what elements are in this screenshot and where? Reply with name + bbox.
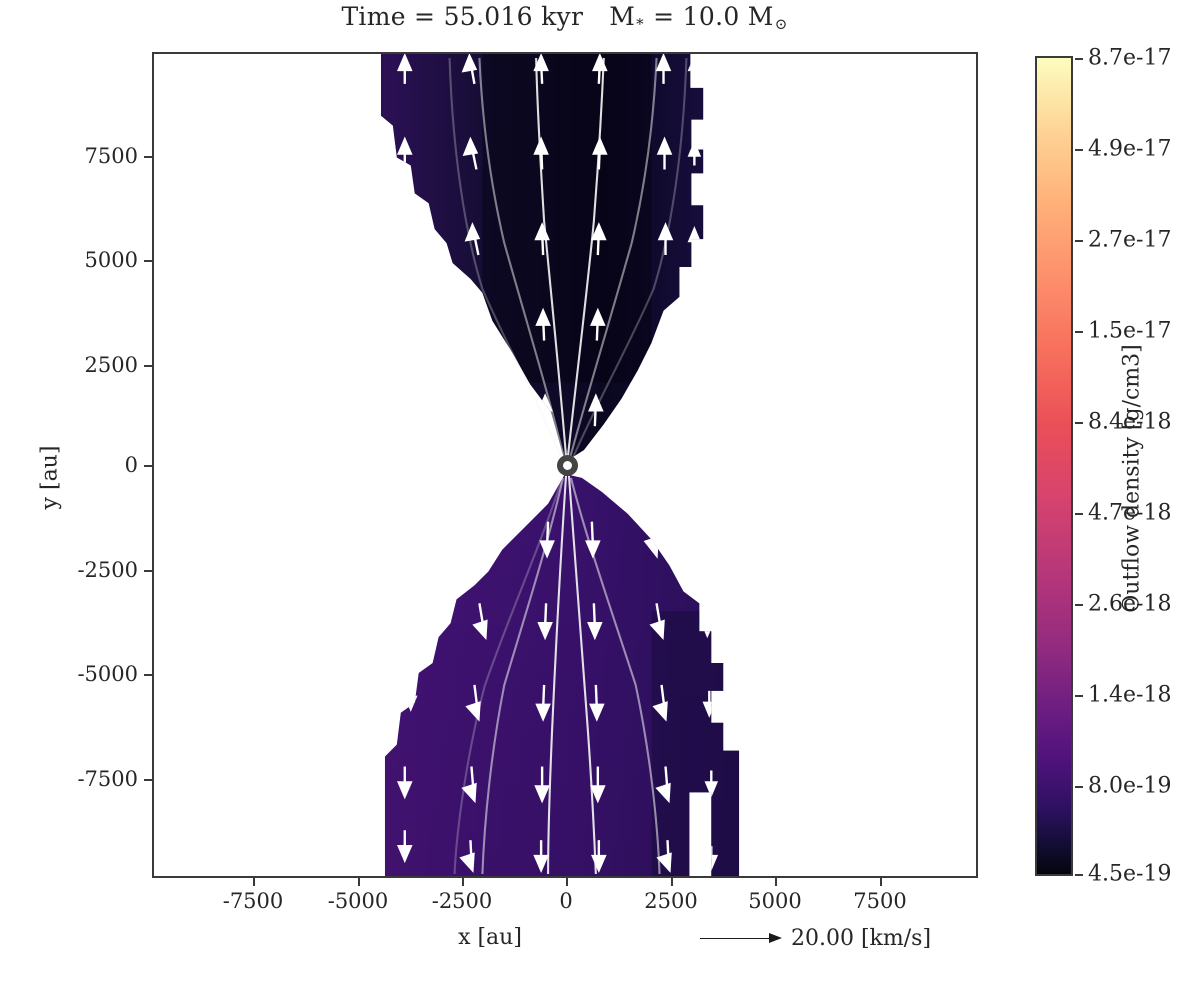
- y-tick-label: 5000: [85, 248, 138, 272]
- x-axis-label: x [au]: [400, 925, 580, 950]
- x-tick-mark: [462, 878, 464, 886]
- figure-title: Time = 55.016 kyrM* = 10.0 M⊙: [152, 2, 978, 33]
- y-tick-label: -2500: [77, 558, 138, 582]
- colorbar-tick-mark: [1075, 604, 1083, 606]
- colorbar-tick-mark: [1075, 331, 1083, 333]
- colorbar-tick-mark: [1075, 695, 1083, 697]
- colorbar-tick-label: 8.0e-19: [1088, 774, 1171, 799]
- title-mass-star-subscript: *: [635, 15, 645, 33]
- arrow-head: [769, 933, 782, 943]
- colorbar-tick-mark: [1075, 149, 1083, 151]
- colorbar-tick-mark: [1075, 58, 1083, 60]
- x-tick-mark: [566, 878, 568, 886]
- y-tick-mark: [144, 365, 152, 367]
- colorbar-tick-mark: [1075, 422, 1083, 424]
- x-tick-label: 7500: [853, 889, 906, 913]
- plot-clip-region: [154, 54, 976, 876]
- colorbar-tick-mark: [1075, 786, 1083, 788]
- right-arrow-icon: [700, 932, 782, 946]
- title-time-prefix: Time =: [341, 2, 443, 31]
- y-tick-mark: [144, 570, 152, 572]
- plot-axes: [152, 52, 978, 878]
- title-mass-prefix: M: [609, 2, 635, 31]
- quiver-key: 20.00 [km/s]: [700, 926, 931, 951]
- x-tick-label: -5000: [328, 889, 389, 913]
- y-tick-label: 2500: [85, 353, 138, 377]
- y-tick-mark: [144, 674, 152, 676]
- y-tick-label: -5000: [77, 662, 138, 686]
- x-tick-label: -2500: [432, 889, 493, 913]
- colorbar-tick-mark: [1075, 240, 1083, 242]
- colorbar-tick-label: 4.9e-17: [1088, 137, 1171, 162]
- y-tick-mark: [144, 779, 152, 781]
- figure-canvas: Time = 55.016 kyrM* = 10.0 M⊙: [0, 0, 1200, 988]
- colorbar-tick-mark: [1075, 874, 1083, 876]
- protostar-marker: [557, 455, 578, 476]
- x-tick-label: 5000: [748, 889, 801, 913]
- colorbar-tick-mark: [1075, 513, 1083, 515]
- colorbar-gradient: [1035, 56, 1073, 876]
- arrow-shaft: [700, 938, 770, 940]
- colorbar-tick-label: 8.7e-17: [1088, 46, 1171, 71]
- quiver-key-label: 20.00 [km/s]: [791, 926, 931, 951]
- x-tick-mark: [358, 878, 360, 886]
- title-mass-equals: = 10.0 M: [645, 2, 774, 31]
- colorbar-axis-label: Outflow density [g/cm3]: [1120, 269, 1145, 689]
- y-tick-mark: [144, 156, 152, 158]
- x-tick-label: 0: [559, 889, 572, 913]
- x-tick-mark: [880, 878, 882, 886]
- x-tick-mark: [253, 878, 255, 886]
- x-tick-mark: [775, 878, 777, 886]
- x-tick-label: 2500: [644, 889, 697, 913]
- colorbar-tick-label: 2.7e-17: [1088, 228, 1171, 253]
- y-tick-label: -7500: [77, 767, 138, 791]
- colorbar-tick-label: 4.5e-19: [1088, 862, 1171, 887]
- y-tick-label: 7500: [85, 144, 138, 168]
- x-tick-label: -7500: [223, 889, 284, 913]
- y-tick-label: 0: [125, 453, 138, 477]
- title-solar-subscript: ⊙: [774, 15, 789, 33]
- title-time-value: 55.016: [444, 2, 533, 31]
- y-tick-mark: [144, 260, 152, 262]
- x-tick-mark: [671, 878, 673, 886]
- y-tick-mark: [144, 465, 152, 467]
- title-time-unit: kyr: [533, 2, 583, 31]
- y-axis-label: y [au]: [38, 418, 63, 538]
